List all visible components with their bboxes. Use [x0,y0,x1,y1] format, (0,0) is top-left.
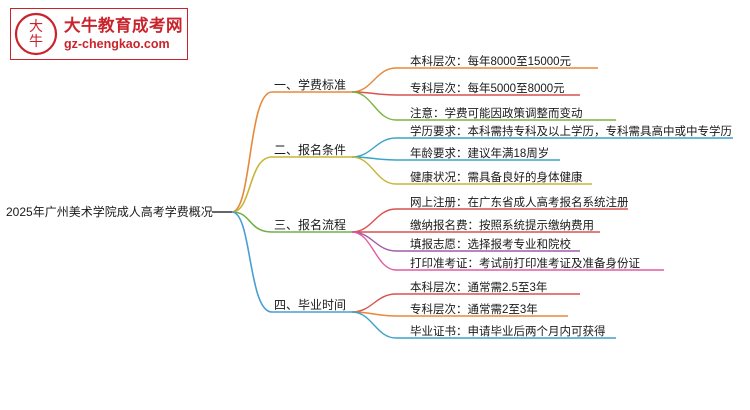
leaf-label-4-2[interactable]: 专科层次：通常需2至3年 [410,303,538,317]
leaf-label-2-1[interactable]: 学历要求：本科需持专科及以上学历，专科需具高中或中专学历 [410,125,732,139]
svg-text:牛: 牛 [29,34,43,50]
logo-title: 大牛教育成考网 [64,16,183,36]
branch-label-2[interactable]: 二、报名条件 [274,143,346,157]
leaf-label-4-3[interactable]: 毕业证书：申请毕业后两个月内可获得 [410,325,606,339]
svg-text:大: 大 [29,19,43,35]
leaf-label-1-1[interactable]: 本科层次：每年8000至15000元 [410,55,571,69]
branch-label-1[interactable]: 一、学费标准 [274,78,346,92]
leaf-label-2-2[interactable]: 年龄要求：建议年满18周岁 [410,147,549,161]
leaf-label-3-1[interactable]: 网上注册：在广东省成人高考报名系统注册 [410,196,629,210]
leaf-label-1-2[interactable]: 专科层次：每年5000至8000元 [410,82,565,96]
leaf-label-2-3[interactable]: 健康状况：需具备良好的身体健康 [410,171,583,185]
mindmap-root-label[interactable]: 2025年广州美术学院成人高考学费概况 [6,205,213,219]
leaf-label-3-4[interactable]: 打印准考证：考试前打印准考证及准备身份证 [410,257,640,271]
site-logo[interactable]: 大 牛 大牛教育成考网 gz-chengkao.com [10,8,188,60]
mindmap-page: 大 牛 大牛教育成考网 gz-chengkao.com 2025年广州美术学院成… [0,0,750,410]
branch-label-4[interactable]: 四、毕业时间 [274,298,346,312]
leaf-label-3-2[interactable]: 缴纳报名费：按照系统提示缴纳费用 [410,219,594,233]
leaf-label-1-3[interactable]: 注意：学费可能因政策调整而变动 [410,107,583,121]
leaf-label-3-3[interactable]: 填报志愿：选择报考专业和院校 [410,238,571,252]
leaf-label-4-1[interactable]: 本科层次：通常需2.5至3年 [410,281,547,295]
logo-subtitle: gz-chengkao.com [64,36,183,52]
branch-label-3[interactable]: 三、报名流程 [274,218,346,232]
bull-logo-icon: 大 牛 [14,12,58,56]
